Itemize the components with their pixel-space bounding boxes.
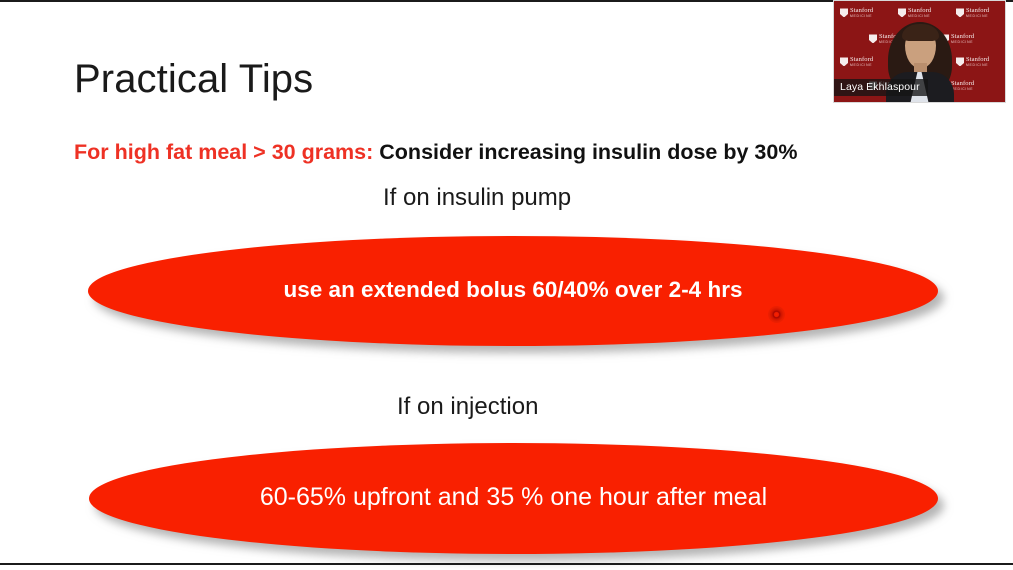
stanford-shield-icon (898, 8, 906, 17)
stanford-shield-icon (956, 8, 964, 17)
logo-line2: MEDICINE (966, 64, 989, 67)
stanford-shield-icon (840, 57, 848, 66)
subheading-rest: Consider increasing insulin dose by 30% (373, 140, 797, 164)
caption-insulin-pump: If on insulin pump (383, 185, 571, 211)
speaker-fringe (902, 24, 939, 41)
callout-text-injection: 60-65% upfront and 35 % one hour after m… (260, 484, 767, 512)
logo-line2: MEDICINE (966, 15, 989, 18)
caption-injection: If on injection (397, 394, 538, 420)
presentation-slide: Practical Tips For high fat meal > 30 gr… (0, 0, 1013, 570)
slide-bottom-border (0, 563, 1013, 565)
speaker-name-badge: Laya Ekhlaspour (834, 79, 928, 96)
callout-text-insulin-pump: use an extended bolus 60/40% over 2-4 hr… (284, 278, 743, 303)
speaker-video-tile[interactable]: Stanford MEDICINE Stanford MEDICINE Stan… (833, 0, 1006, 103)
subheading: For high fat meal > 30 grams: Consider i… (74, 141, 797, 165)
stanford-medicine-logo-icon: Stanford MEDICINE (898, 8, 931, 18)
callout-ellipse-injection: 60-65% upfront and 35 % one hour after m… (89, 443, 938, 554)
logo-line2: MEDICINE (850, 15, 873, 18)
stanford-shield-icon (840, 8, 848, 17)
laser-pointer-dot-icon (768, 306, 785, 323)
stanford-medicine-logo-icon: Stanford MEDICINE (840, 57, 873, 67)
logo-line2: MEDICINE (850, 64, 873, 67)
callout-ellipse-insulin-pump: use an extended bolus 60/40% over 2-4 hr… (88, 236, 938, 346)
stanford-medicine-logo-icon: Stanford MEDICINE (956, 8, 989, 18)
page-title: Practical Tips (74, 57, 313, 101)
stanford-medicine-logo-icon: Stanford MEDICINE (840, 8, 873, 18)
subheading-highlight: For high fat meal > 30 grams: (74, 140, 373, 164)
